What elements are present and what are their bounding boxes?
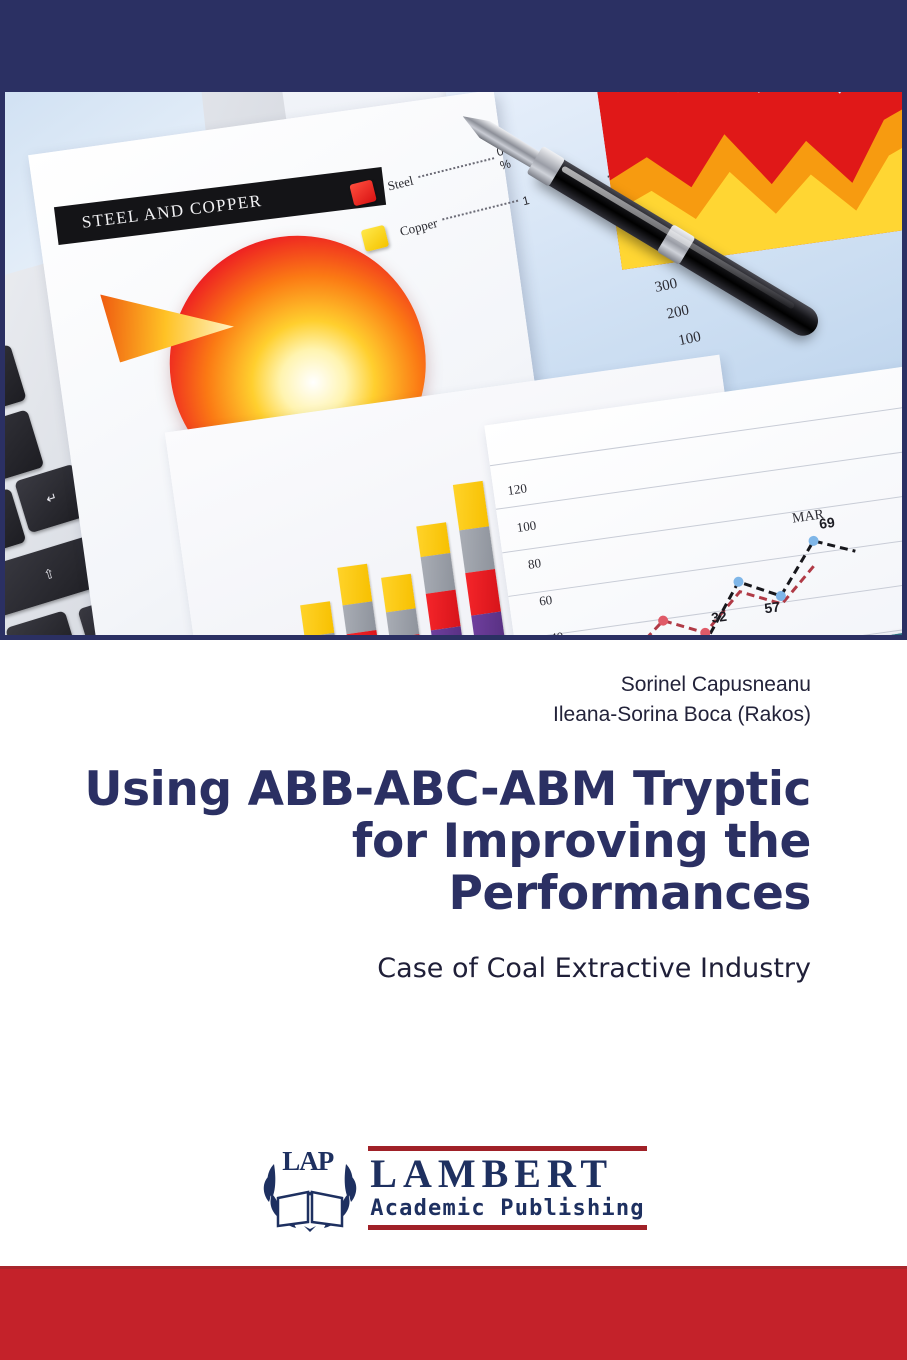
author-name-2: Ileana-Sorina Boca (Rakos) [70, 700, 811, 730]
laurel-wreath-book-icon: LAP [260, 1142, 360, 1234]
logo-rule-bottom [368, 1225, 646, 1230]
author-list: Sorinel Capusneanu Ileana-Sorina Boca (R… [70, 670, 811, 730]
keyboard-key-arrow-up: ▲ [5, 610, 78, 635]
area-y-tick-100: 100 [677, 329, 703, 350]
publisher-tagline: Academic Publishing [368, 1196, 646, 1225]
book-cover: Ë ← ↵ ⇧ ▲ ▶ ▼ 700 600 500 400 300 200 10… [0, 0, 907, 1360]
bar-column-2 [337, 564, 382, 635]
legend-leader-copper [442, 200, 518, 221]
bar-column-1 [300, 601, 341, 635]
cover-text-block: Sorinel Capusneanu Ileana-Sorina Boca (R… [0, 640, 907, 986]
area-y-tick-200: 200 [665, 302, 691, 323]
pie-chart-title-bar: STEEL AND COPPER [54, 167, 386, 245]
top-navy-band [0, 0, 907, 92]
bar-column-3 [381, 574, 424, 635]
legend-leader-steel [418, 157, 494, 178]
legend-label-copper: Copper [398, 215, 439, 240]
line-point-label-32: 32 [710, 608, 728, 626]
cover-photo-frame: Ë ← ↵ ⇧ ▲ ▶ ▼ 700 600 500 400 300 200 10… [0, 92, 907, 640]
bar-column-4 [416, 522, 465, 635]
bottom-red-band [0, 1266, 907, 1360]
book-title: Using ABB-ABC-ABM Tryptic for Improving … [70, 764, 811, 920]
cover-photo: Ë ← ↵ ⇧ ▲ ▶ ▼ 700 600 500 400 300 200 10… [0, 92, 907, 635]
book-subtitle: Case of Coal Extractive Industry [70, 952, 811, 986]
publisher-name: LAMBERT [368, 1151, 646, 1196]
area-chart-svg [589, 92, 907, 290]
pie-chart-title: STEEL AND COPPER [81, 191, 263, 233]
legend-swatch-steel [349, 179, 377, 206]
legend-label-steel: Steel [386, 173, 415, 195]
publisher-logo: LAP LAMBERT Academic Publishing [0, 1142, 907, 1234]
lap-monogram: LAP [282, 1146, 333, 1177]
line-point-label-57: 57 [763, 598, 781, 616]
line-point-label-69: 69 [818, 514, 836, 532]
legend-swatch-copper [361, 225, 390, 252]
author-name-1: Sorinel Capusneanu [70, 670, 811, 700]
